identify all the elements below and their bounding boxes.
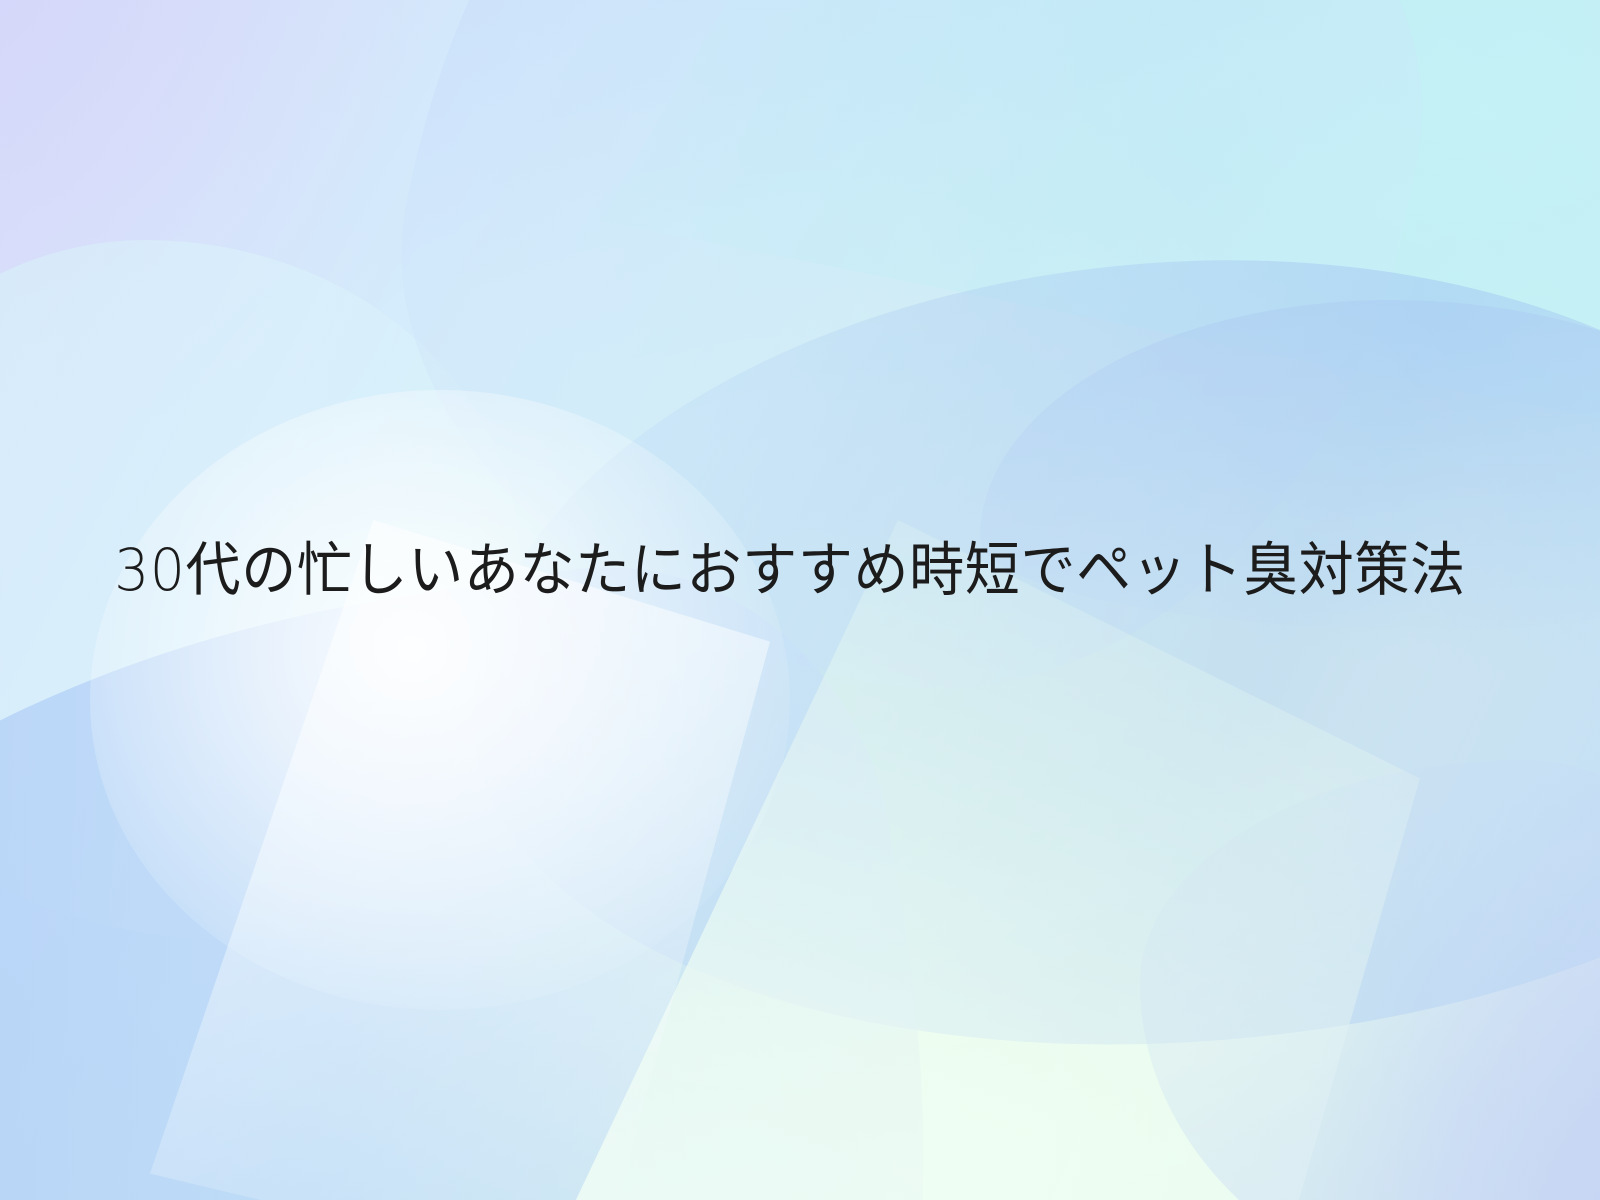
slide-title: 30代の忙しいあなたにおすすめ時短でペット臭対策法 [114,533,1466,608]
presentation-slide: 30代の忙しいあなたにおすすめ時短でペット臭対策法 [0,0,1600,1200]
decorative-shape-center-glow [90,390,790,1010]
decorative-shape-upper-polygon [329,0,1491,771]
title-block: 30代の忙しいあなたにおすすめ時短でペット臭対策法 [0,498,1600,642]
decorative-shape-bottom-right [1140,760,1600,1200]
decorative-shape-lens-band [445,213,1600,1090]
